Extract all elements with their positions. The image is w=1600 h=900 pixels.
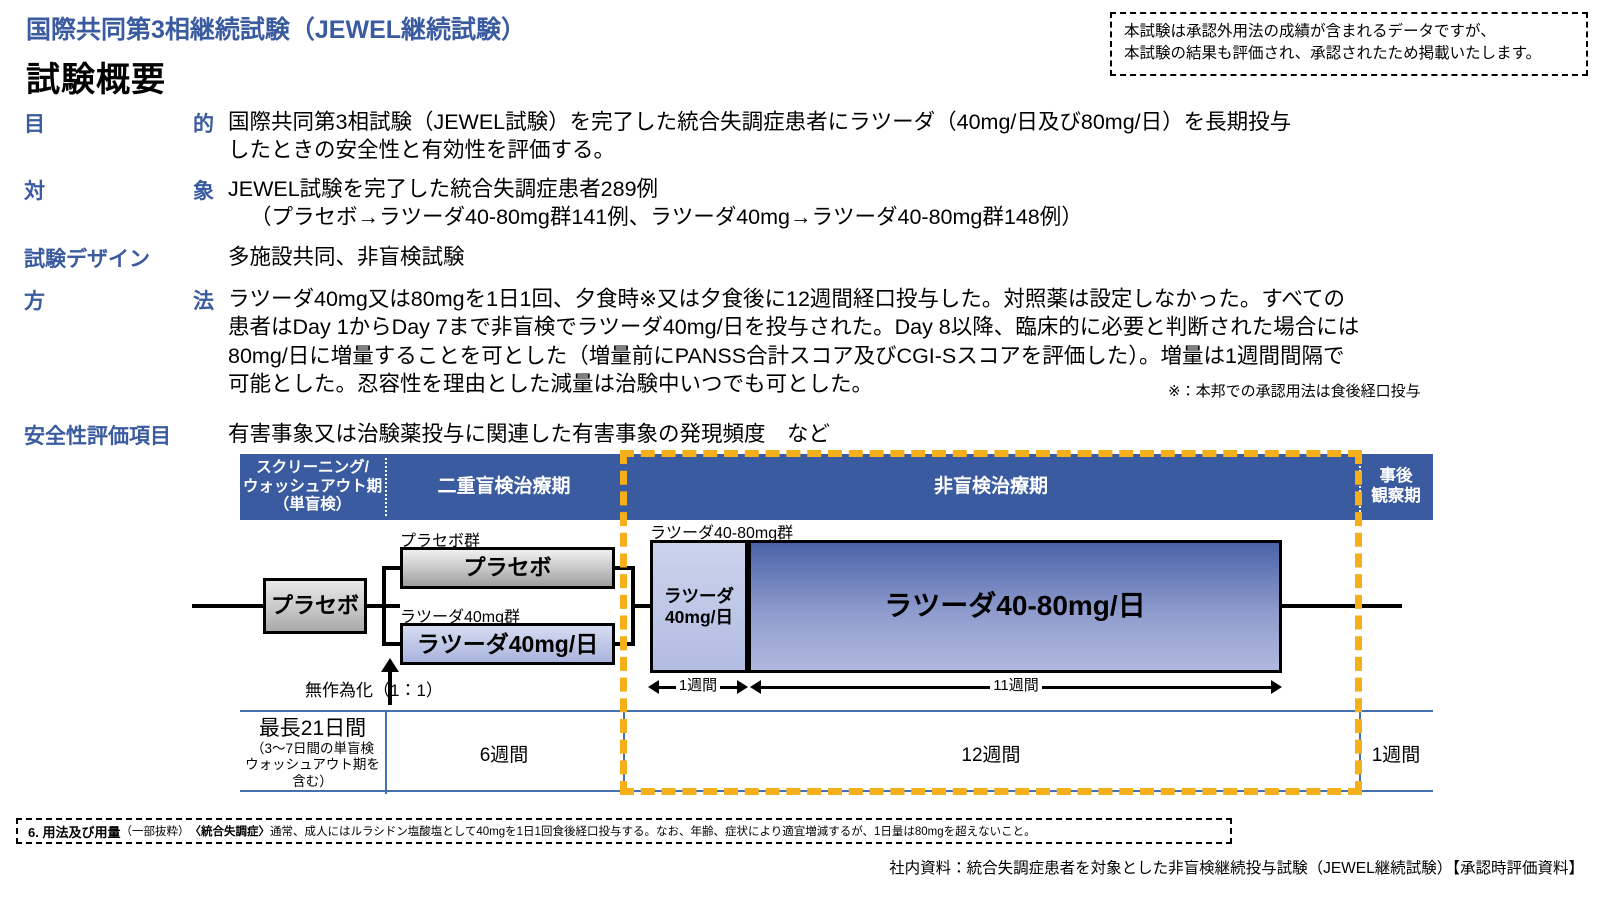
duration-screening-sub-3: 含む） xyxy=(292,774,333,790)
overview-label-design: 試験デザイン xyxy=(24,243,214,273)
duration-cell-follow-up: 1週間 xyxy=(1359,712,1433,794)
overview-safety-line-1: 有害事象又は治験薬投与に関連した有害事象の発現頻度 など xyxy=(228,420,1588,448)
box-placebo-runin: プラセボ xyxy=(263,578,367,634)
overview-label-safety: 安全性評価項目 xyxy=(24,420,214,450)
disclaimer-line-2: 本試験の結果も評価され、承認されたため掲載いたします。 xyxy=(1124,43,1576,65)
source-citation: 社内資料：統合失調症患者を対象とした非盲検継続投与試験（JEWEL継続試験）【承… xyxy=(889,856,1584,878)
arrow-week-11-head-right xyxy=(1271,680,1282,694)
duration-divider-2 xyxy=(623,712,625,794)
dose-note-paren: （一部抜粋） xyxy=(120,823,189,839)
connector-split-lower xyxy=(382,642,402,646)
duration-divider-3 xyxy=(1359,712,1361,794)
overview-body-purpose: 国際共同第3相試験（JEWEL試験）を完了した統合失調症患者にラツーダ（40mg… xyxy=(228,108,1588,165)
phase-header-open-label: 非盲検治療期 xyxy=(623,454,1359,520)
overview-body-subject: JEWEL試験を完了した統合失調症患者289例 （プラセボ→ラツーダ40-80m… xyxy=(228,175,1588,232)
overview-label-subject: 対 象 xyxy=(24,175,214,205)
arrow-week-1-label: 1週間 xyxy=(676,676,720,696)
duration-divider-1 xyxy=(385,712,387,794)
overview-purpose-line-2: したときの安全性と有効性を評価する。 xyxy=(228,136,1588,164)
phase-header-follow-up: 事後 観察期 xyxy=(1359,454,1433,520)
overview-label-subject-char-1: 対 xyxy=(24,175,45,205)
phase-separator-1 xyxy=(385,458,387,516)
box-latuda40-open-label: ラツーダ 40mg/日 xyxy=(650,540,748,673)
overview-label-method-char-2: 法 xyxy=(193,285,214,315)
connector-entry-line xyxy=(192,604,263,608)
arrow-week-1: 1週間 xyxy=(648,676,748,698)
overview-purpose-line-1: 国際共同第3相試験（JEWEL試験）を完了した統合失調症患者にラツーダ（40mg… xyxy=(228,108,1588,136)
box-placebo-double-blind: プラセボ xyxy=(400,547,615,589)
page-title: 国際共同第3相継続試験（JEWEL継続試験） xyxy=(26,10,526,46)
duration-cell-double-blind: 6週間 xyxy=(385,712,623,794)
overview-method-line-2: 患者はDay 1からDay 7まで非盲検でラツーダ40mg/日を投与された。Da… xyxy=(228,313,1588,341)
overview-label-method-char-1: 方 xyxy=(24,285,45,315)
overview-label-subject-char-2: 象 xyxy=(193,175,214,205)
arrow-week-11-label: 11週間 xyxy=(990,676,1042,696)
method-footnote: ※：本邦での承認用法は食後経口投与 xyxy=(1168,380,1421,401)
phase-screening-line-1: スクリーニング/ xyxy=(256,459,369,476)
disclaimer-line-1: 本試験は承認外用法の成績が含まれるデータですが、 xyxy=(1124,21,1576,43)
phase-header-screening: スクリーニング/ ウォッシュアウト期 （単盲検） xyxy=(240,454,385,520)
overview-subject-line-1: JEWEL試験を完了した統合失調症患者289例 xyxy=(228,175,1588,203)
duration-screening-main: 最長21日間 xyxy=(259,716,366,741)
overview-design-line-1: 多施設共同、非盲検試験 xyxy=(228,243,1588,271)
dose-and-administration-note: 6. 用法及び用量（一部抜粋）〈統合失調症〉通常、成人にはルラシドン塩酸塩として… xyxy=(16,818,1232,844)
box-latuda40-double-blind: ラツーダ40mg/日 xyxy=(400,623,615,665)
phase-screening-line-3: （単盲検） xyxy=(274,496,352,513)
connector-split-vertical xyxy=(382,566,386,646)
phase-follow-line-2: 観察期 xyxy=(1371,487,1421,505)
arrow-week-11: 11週間 xyxy=(750,676,1282,698)
disclaimer-box: 本試験は承認外用法の成績が含まれるデータですが、 本試験の結果も評価され、承認さ… xyxy=(1110,12,1588,76)
box-latuda40-open-line-1: ラツーダ xyxy=(664,586,734,606)
randomization-label: 無作為化（1：1） xyxy=(305,676,443,701)
duration-cell-open-label: 12週間 xyxy=(623,712,1359,794)
phase-follow-line-1: 事後 xyxy=(1380,467,1413,485)
connector-exit-line xyxy=(1282,604,1402,608)
section-heading: 試験概要 xyxy=(26,52,166,101)
study-design-diagram: スクリーニング/ ウォッシュアウト期 （単盲検） 二重盲検治療期 非盲検治療期 … xyxy=(0,448,1600,798)
overview-body-safety: 有害事象又は治験薬投与に関連した有害事象の発現頻度 など xyxy=(228,420,1588,448)
overview-label-method: 方 法 xyxy=(24,285,214,315)
dose-note-body: 通常、成人にはルラシドン塩酸塩として40mgを1日1回食後経口投与する。なお、年… xyxy=(270,823,1036,839)
randomization-arrow-head xyxy=(381,658,399,672)
connector-split-upper xyxy=(382,566,402,570)
overview-subject-line-2: （プラセボ→ラツーダ40-80mg群141例、ラツーダ40mg→ラツーダ40-8… xyxy=(228,203,1588,231)
phase-screening-line-2: ウォッシュアウト期 xyxy=(243,478,382,495)
overview-label-purpose: 目 的 xyxy=(24,108,214,138)
box-latuda40-80-open-label: ラツーダ40-80mg/日 xyxy=(748,540,1282,673)
box-latuda40-open-line-2: 40mg/日 xyxy=(665,607,733,627)
duration-screening-sub-2: ウォッシュアウト期を xyxy=(245,757,380,773)
duration-screening-sub-1: （3〜7日間の単盲検 xyxy=(251,741,374,757)
duration-table: 最長21日間 （3〜7日間の単盲検 ウォッシュアウト期を 含む） 6週間 12週… xyxy=(240,710,1433,792)
overview-body-design: 多施設共同、非盲検試験 xyxy=(228,243,1588,271)
dose-note-head: 6. 用法及び用量 xyxy=(28,822,120,841)
overview-label-purpose-char-2: 的 xyxy=(193,108,214,138)
duration-cell-screening: 最長21日間 （3〜7日間の単盲検 ウォッシュアウト期を 含む） xyxy=(240,712,385,794)
overview-method-line-3: 80mg/日に増量することを可とした（増量前にPANSS合計スコア及びCGI-S… xyxy=(228,342,1588,370)
overview-method-line-1: ラツーダ40mg又は80mgを1日1回、夕食時※又は夕食後に12週間経口投与した… xyxy=(228,285,1588,313)
dose-note-indication: 〈統合失調症〉 xyxy=(189,823,270,839)
phase-separator-2 xyxy=(1359,458,1361,516)
arrow-week-1-head-right xyxy=(737,680,748,694)
overview-label-purpose-char-1: 目 xyxy=(24,108,45,138)
phase-header-double-blind: 二重盲検治療期 xyxy=(385,454,623,520)
